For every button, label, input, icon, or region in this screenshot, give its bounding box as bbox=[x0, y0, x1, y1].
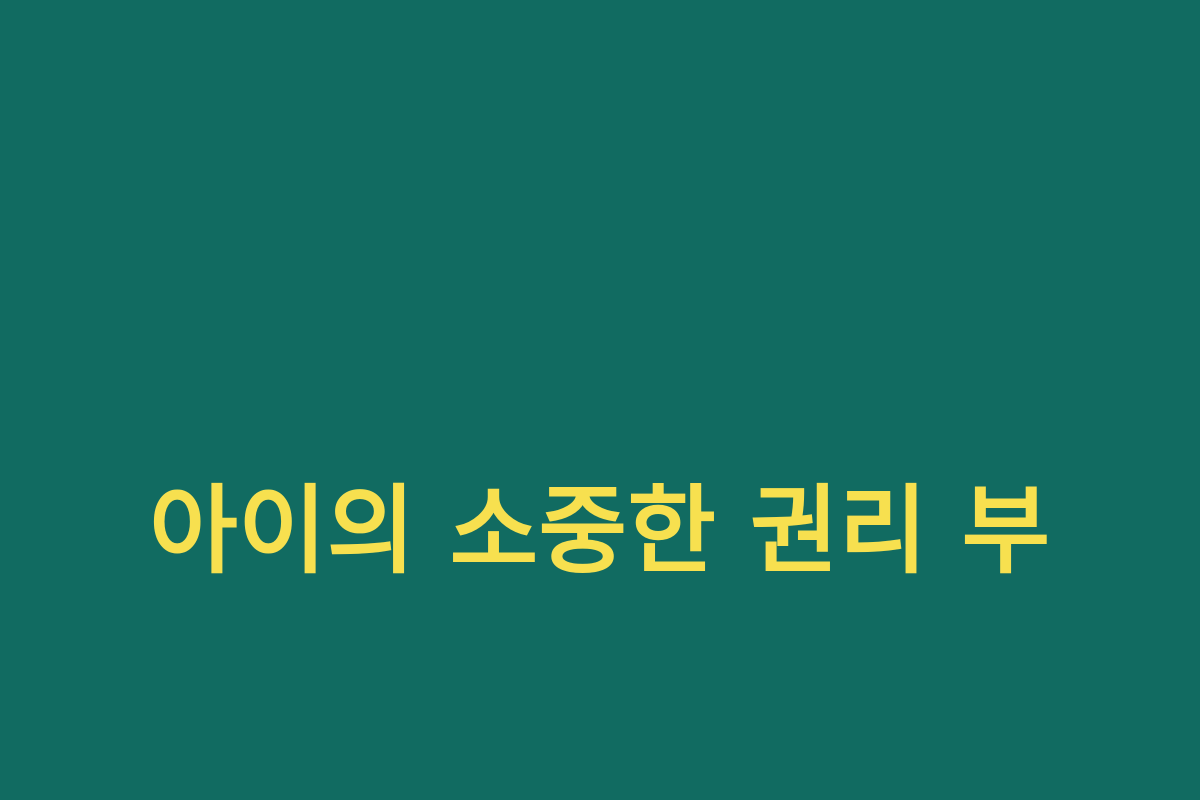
headline-line-1: 아이의 소중한 권리 부 bbox=[60, 468, 1140, 595]
banner-canvas: 아이의 소중한 권리 부 모급여 신청방법 잊지 말 고 꼭 챙기세요 bbox=[0, 0, 1200, 800]
headline-text: 아이의 소중한 권리 부 모급여 신청방법 잊지 말 고 꼭 챙기세요 bbox=[0, 214, 1200, 800]
